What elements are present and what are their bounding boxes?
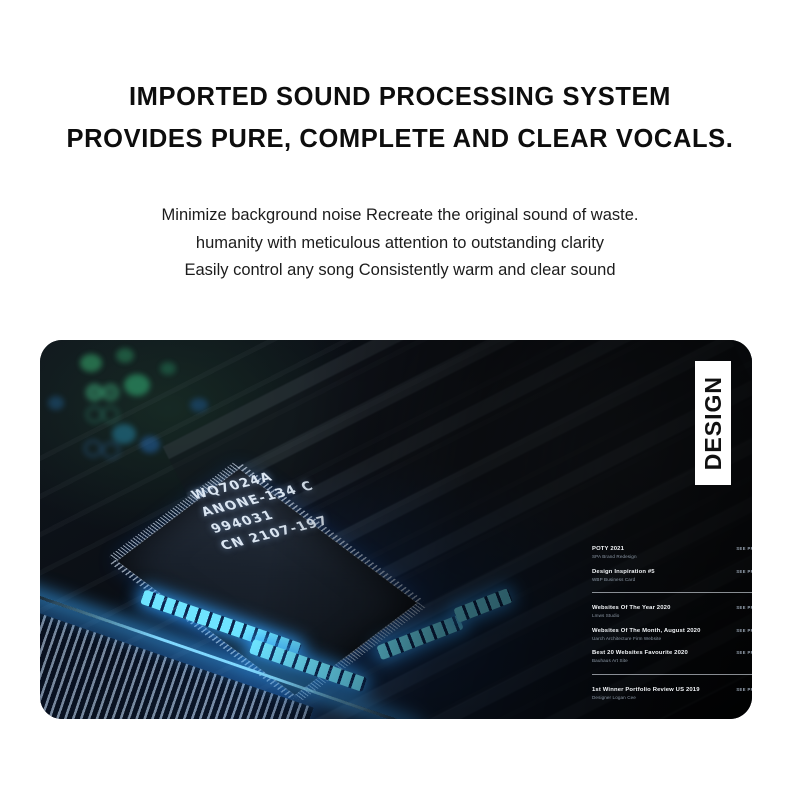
award-title: Design Inspiration #5	[592, 568, 655, 576]
headline-line-1: IMPORTED SOUND PROCESSING SYSTEM	[0, 76, 800, 118]
award-title: Websites Of The Year 2020	[592, 604, 671, 612]
award-subtitle: Bauhaus Art Site	[592, 657, 688, 665]
award-list-item[interactable]: Websites Of The Month, August 2020 Uarch…	[592, 627, 752, 643]
award-text-group: Websites Of The Month, August 2020 Uarch…	[592, 627, 701, 643]
subcopy-line-1: Minimize background noise Recreate the o…	[0, 202, 800, 230]
award-subtitle: WBP Business Card	[592, 576, 655, 584]
award-list-item[interactable]: Design Inspiration #5 WBP Business Card …	[592, 568, 752, 584]
award-text-group: POTY 2021 SPA Brand Redesign	[592, 545, 637, 561]
award-text-group: Design Inspiration #5 WBP Business Card	[592, 568, 655, 584]
award-list-item[interactable]: 1st Winner Portfolio Review US 2019 Desi…	[592, 686, 752, 702]
award-title: 1st Winner Portfolio Review US 2019	[592, 686, 700, 694]
award-list-item[interactable]: Best 20 Websites Favourite 2020 Bauhaus …	[592, 649, 752, 665]
design-badge: DESIGN	[695, 361, 731, 485]
page-headline: IMPORTED SOUND PROCESSING SYSTEM PROVIDE…	[0, 76, 800, 160]
headline-line-2: PROVIDES PURE, COMPLETE AND CLEAR VOCALS…	[0, 118, 800, 160]
award-text-group: Websites Of The Year 2020 Lmws Studio	[592, 604, 671, 620]
see-project-link[interactable]: SEE PROJECT	[736, 545, 752, 551]
subcopy-line-3: Easily control any song Consistently war…	[0, 257, 800, 285]
award-subtitle: Designer Logan Cee	[592, 694, 700, 702]
see-project-link[interactable]: SEE PROJECT	[736, 568, 752, 574]
hero-image-card: WQ7024A ANONE-134 C 994031 CN 2107-197 D…	[40, 340, 752, 719]
award-list-item[interactable]: Websites Of The Year 2020 Lmws Studio SE…	[592, 604, 752, 620]
award-subtitle: SPA Brand Redesign	[592, 553, 637, 561]
award-list: POTY 2021 SPA Brand Redesign SEE PROJECT…	[592, 545, 752, 708]
award-subtitle: Lmws Studio	[592, 612, 671, 620]
design-badge-label: DESIGN	[702, 376, 725, 470]
award-text-group: Best 20 Websites Favourite 2020 Bauhaus …	[592, 649, 688, 665]
see-project-link[interactable]: SEE PROJECT	[736, 627, 752, 633]
award-list-divider	[592, 674, 752, 675]
page-subcopy: Minimize background noise Recreate the o…	[0, 202, 800, 285]
subcopy-line-2: humanity with meticulous attention to ou…	[0, 230, 800, 258]
award-list-item[interactable]: POTY 2021 SPA Brand Redesign SEE PROJECT	[592, 545, 752, 561]
see-project-link[interactable]: SEE PROJECT	[736, 686, 752, 692]
award-list-divider	[592, 592, 752, 593]
see-project-link[interactable]: SEE PROJECT	[736, 604, 752, 610]
award-subtitle: Uarch Architecture Firm Website	[592, 635, 701, 643]
award-title: Websites Of The Month, August 2020	[592, 627, 701, 635]
see-project-link[interactable]: SEE PROJECT	[736, 649, 752, 655]
award-text-group: 1st Winner Portfolio Review US 2019 Desi…	[592, 686, 700, 702]
award-title: Best 20 Websites Favourite 2020	[592, 649, 688, 657]
award-title: POTY 2021	[592, 545, 637, 553]
